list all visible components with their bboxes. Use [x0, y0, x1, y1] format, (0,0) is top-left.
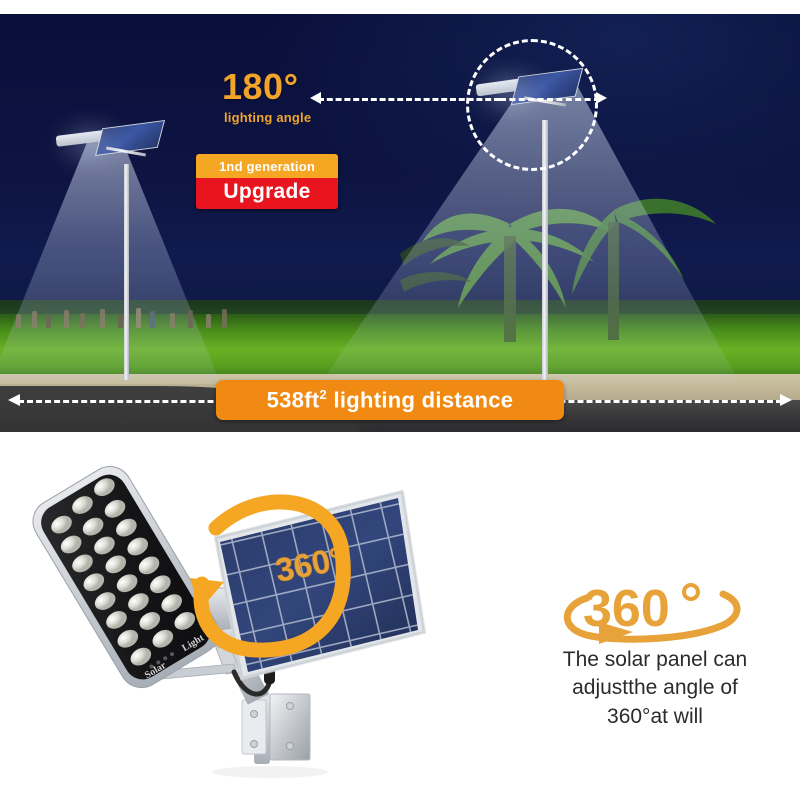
distance-arrow-right-icon	[780, 394, 792, 406]
angle-dashed-line-right	[500, 98, 600, 101]
angle-arrow-right-icon	[596, 92, 607, 104]
upgrade-badge: 1nd generation Upgrade	[196, 154, 338, 209]
logo-degree-icon	[684, 585, 698, 599]
highlight-circle	[466, 39, 598, 171]
solar-street-light-product: 360° Solar	[20, 432, 440, 800]
lighting-distance-banner: 538ft2 lighting distance	[216, 380, 564, 420]
caption-line-3: 360°at will	[520, 703, 790, 731]
generation-badge-label: 1nd generation	[196, 154, 338, 178]
lighting-distance-text: 538ft2 lighting distance	[267, 387, 514, 413]
caption-line-1: The solar panel can	[520, 646, 790, 674]
caption-line-2: adjustthe angle of	[520, 674, 790, 702]
led-lamp-head: Solar Light	[25, 458, 227, 695]
logo-360-number: 360	[583, 580, 670, 638]
product-infographic: 180° lighting angle 1nd generation Upgra…	[0, 0, 800, 800]
lamp-glow-left	[68, 134, 112, 152]
distance-label: lighting distance	[327, 387, 513, 412]
night-scene-photo: 180° lighting angle 1nd generation Upgra…	[0, 14, 800, 432]
upgrade-badge-label: Upgrade	[196, 178, 338, 209]
distance-number: 538ft	[267, 387, 320, 412]
product-detail-panel: 360° Solar	[0, 432, 800, 800]
lighting-angle-value: 180°	[222, 69, 298, 105]
lamp-pole-left	[124, 164, 129, 380]
logo-360: 360	[520, 572, 790, 646]
distance-superscript: 2	[320, 387, 328, 402]
lighting-angle-caption: lighting angle	[224, 110, 311, 125]
rotation-description-block: 360 The solar panel can adjustthe angle …	[520, 572, 790, 731]
